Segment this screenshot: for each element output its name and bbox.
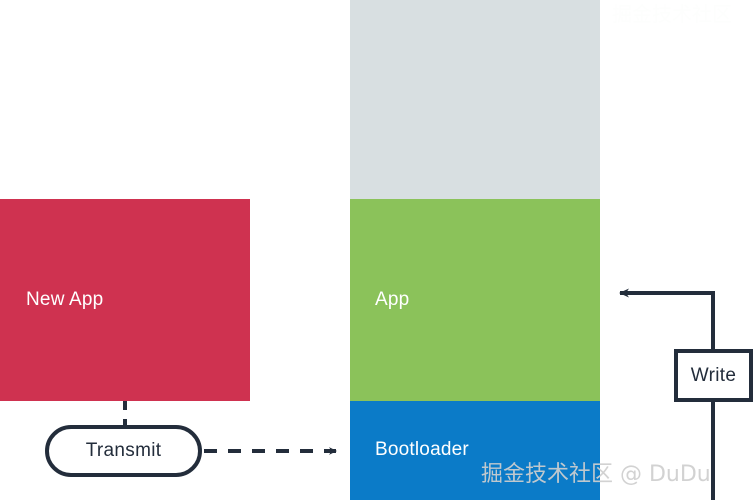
block-app-label: App — [375, 289, 409, 311]
diagram-canvas: New App App Bootloader Trans — [0, 0, 753, 500]
node-write-label: Write — [691, 365, 736, 387]
node-transmit-label: Transmit — [86, 440, 162, 462]
node-write[interactable]: Write — [674, 349, 753, 402]
block-new-app-label: New App — [26, 289, 103, 311]
watermark-top-right: 掘金技术社区 — [612, 0, 732, 27]
node-transmit[interactable]: Transmit — [45, 425, 202, 477]
block-reserved — [350, 0, 600, 199]
watermark-bottom-right: 掘金技术社区 @ DuDu — [481, 456, 711, 488]
block-bootloader-label: Bootloader — [375, 439, 469, 461]
